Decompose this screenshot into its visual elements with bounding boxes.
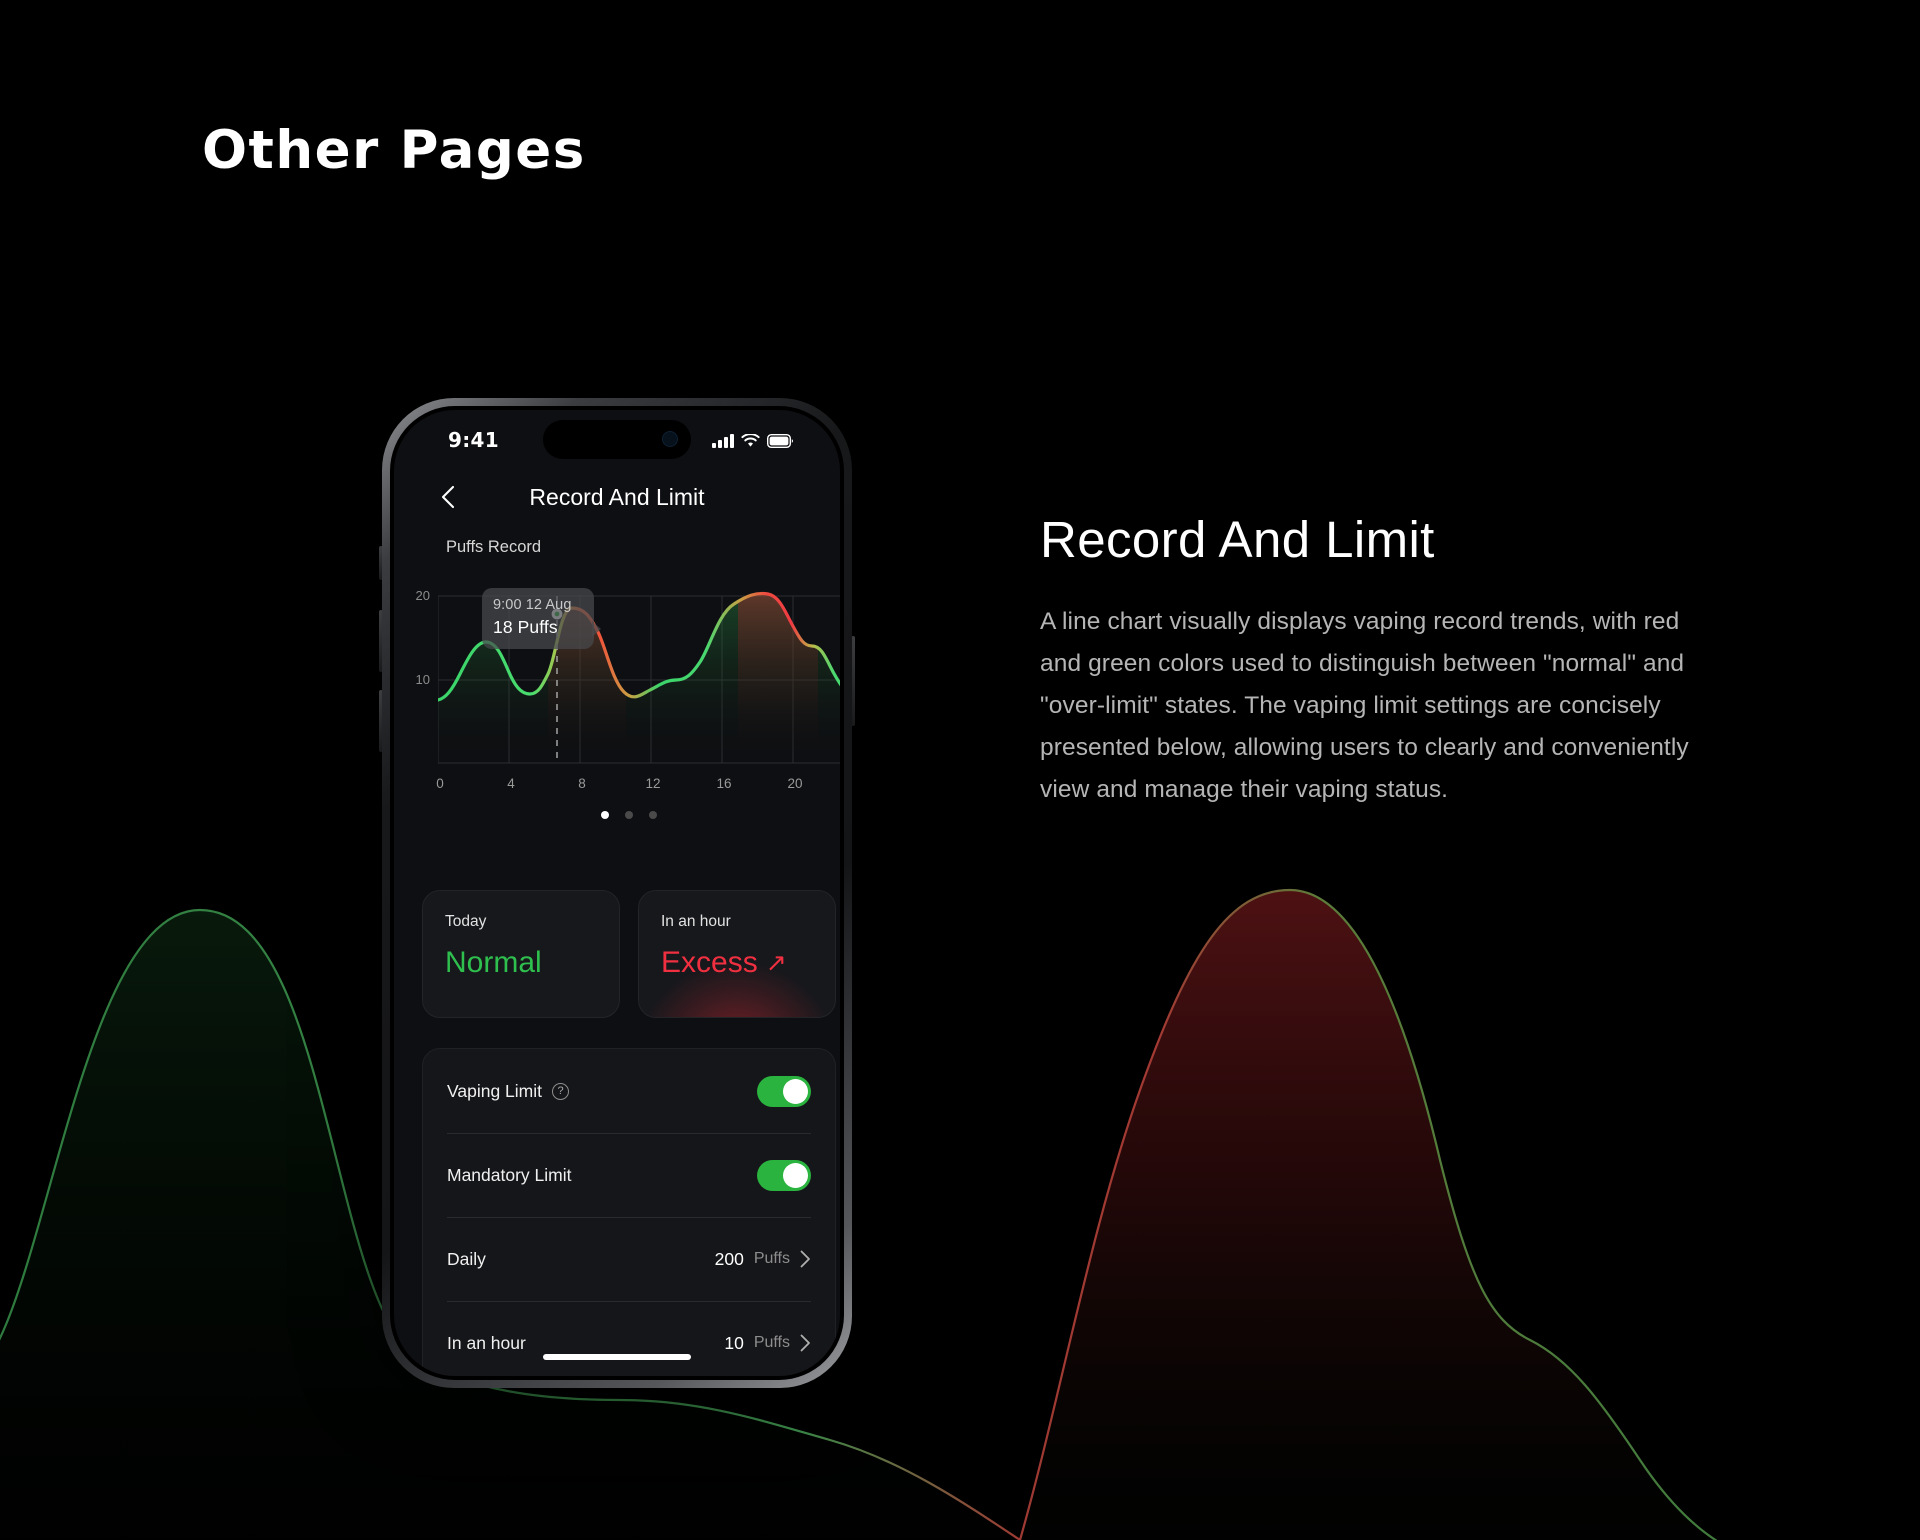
card-label: Today	[445, 913, 619, 931]
row-control: 200 Puffs	[715, 1249, 811, 1270]
toggle-knob	[783, 1163, 808, 1188]
tooltip-pointer	[592, 621, 601, 637]
home-indicator[interactable]	[543, 1354, 691, 1360]
x-axis-tick: 16	[716, 776, 731, 791]
row-value: 200	[715, 1249, 744, 1270]
chevron-right-icon[interactable]	[800, 1250, 811, 1268]
pagination-dot-2[interactable]	[625, 811, 633, 819]
puffs-record-chart[interactable]: 20 10	[394, 570, 840, 770]
description-title: Record And Limit	[1040, 510, 1700, 569]
card-label: In an hour	[661, 913, 835, 931]
chart-pagination-dots[interactable]	[394, 806, 840, 824]
row-label: Daily	[447, 1249, 486, 1270]
row-control	[757, 1076, 811, 1107]
status-bar: 9:41	[394, 410, 840, 472]
phone-frame: 9:41	[382, 398, 852, 1388]
phone-bezel: 9:41	[390, 406, 844, 1380]
pagination-dot-1[interactable]	[601, 811, 609, 819]
chart-label: Puffs Record	[446, 538, 541, 557]
x-axis-tick: 8	[578, 776, 586, 791]
wifi-icon	[741, 434, 760, 448]
status-card-today[interactable]: Today Normal	[422, 890, 620, 1018]
page-title: Other Pages	[202, 120, 586, 181]
status-cards: Today Normal In an hour Excess ↗	[422, 890, 836, 1018]
description-body: A line chart visually displays vaping re…	[1040, 601, 1700, 811]
row-label: In an hour	[447, 1333, 526, 1354]
x-axis-tick: 0	[436, 776, 444, 791]
row-label-wrap: Mandatory Limit	[447, 1165, 572, 1186]
status-bar-time: 9:41	[448, 428, 499, 452]
settings-row-daily[interactable]: Daily 200 Puffs	[423, 1217, 835, 1301]
chevron-right-icon[interactable]	[800, 1334, 811, 1352]
mandatory-limit-toggle[interactable]	[757, 1160, 811, 1191]
card-value: Normal	[445, 946, 542, 980]
x-axis-tick: 4	[507, 776, 515, 791]
x-axis-tick: 12	[645, 776, 660, 791]
tooltip-value: 18 Puffs	[493, 617, 583, 638]
row-unit: Puffs	[754, 1334, 790, 1352]
row-value: 10	[724, 1333, 743, 1354]
row-label: Mandatory Limit	[447, 1165, 572, 1186]
nav-bar: Record And Limit	[394, 472, 840, 528]
question-mark-icon[interactable]: ?	[552, 1083, 569, 1100]
battery-icon	[767, 434, 794, 448]
row-label: Vaping Limit	[447, 1081, 542, 1102]
dynamic-island	[543, 420, 691, 459]
excess-glow	[639, 963, 835, 1018]
background-decorative-chart	[0, 760, 1920, 1540]
row-control	[757, 1160, 811, 1191]
front-camera-icon	[662, 431, 678, 447]
settings-row-vaping-limit[interactable]: Vaping Limit ?	[423, 1049, 835, 1133]
settings-row-mandatory-limit[interactable]: Mandatory Limit	[423, 1133, 835, 1217]
signal-bars-icon	[712, 434, 734, 448]
chart-x-axis: 0 4 8 12 16 20 24	[394, 776, 840, 798]
screenshot-root: Other Pages Record And Limit A line char…	[0, 0, 1920, 1540]
page-header-title: Record And Limit	[394, 484, 840, 511]
tooltip-timestamp: 9:00 12 Aug	[493, 597, 583, 613]
chart-tooltip: 9:00 12 Aug 18 Puffs	[482, 588, 594, 649]
status-bar-indicators	[712, 430, 794, 448]
description-panel: Record And Limit A line chart visually d…	[1040, 510, 1700, 811]
settings-row-in-an-hour[interactable]: In an hour 10 Puffs	[423, 1301, 835, 1376]
y-axis-tick-10: 10	[402, 672, 430, 687]
phone-screen: 9:41	[394, 410, 840, 1376]
row-control: 10 Puffs	[724, 1333, 811, 1354]
settings-list: Vaping Limit ? Mandatory Limit	[422, 1048, 836, 1376]
status-card-in-an-hour[interactable]: In an hour Excess ↗	[638, 890, 836, 1018]
vaping-limit-toggle[interactable]	[757, 1076, 811, 1107]
toggle-knob	[783, 1079, 808, 1104]
pagination-dot-3[interactable]	[649, 811, 657, 819]
x-axis-tick: 20	[787, 776, 802, 791]
row-label-wrap: Vaping Limit ?	[447, 1081, 569, 1102]
row-unit: Puffs	[754, 1250, 790, 1268]
card-value-wrap: Normal	[445, 946, 619, 980]
phone-mockup: 9:41	[382, 398, 852, 1388]
row-label-wrap: In an hour	[447, 1333, 526, 1354]
y-axis-tick-20: 20	[402, 588, 430, 603]
row-label-wrap: Daily	[447, 1249, 486, 1270]
